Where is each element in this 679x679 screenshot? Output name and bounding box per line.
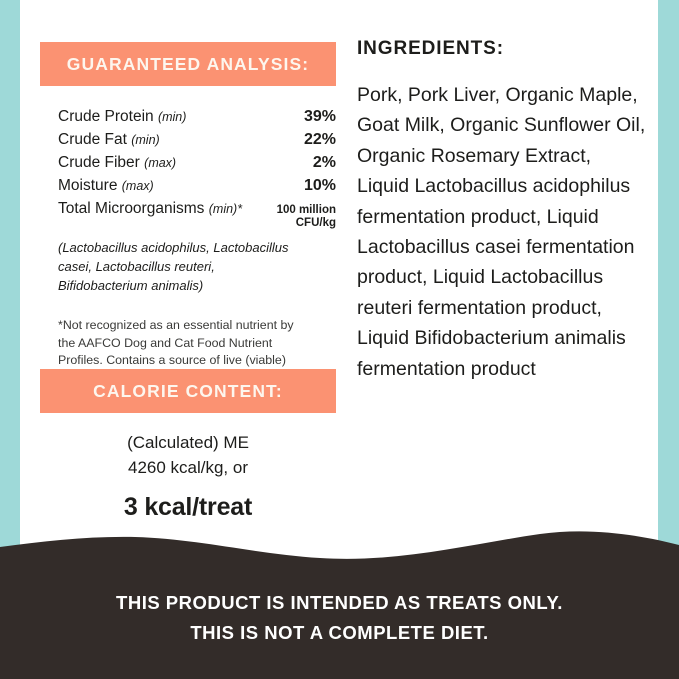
- nutrient-qualifier: (min): [158, 110, 186, 124]
- nutrient-name-cell: Crude Protein (min): [40, 105, 269, 128]
- nutrient-name: Crude Fiber: [58, 154, 140, 171]
- nutrient-name-cell: Moisture (max): [40, 174, 269, 197]
- guaranteed-analysis-section: GUARANTEED ANALYSIS: Crude Protein (min)…: [40, 42, 336, 387]
- table-row: Moisture (max) 10%: [40, 174, 336, 197]
- calorie-content-heading: CALORIE CONTENT:: [93, 381, 283, 402]
- calorie-content-section: CALORIE CONTENT: (Calculated) ME 4260 kc…: [40, 369, 336, 522]
- disclaimer-banner-text: THIS PRODUCT IS INTENDED AS TREATS ONLY.…: [0, 588, 679, 648]
- ingredients-list: Pork, Pork Liver, Organic Maple, Goat Mi…: [357, 80, 647, 384]
- nutrient-name-cell: Total Microorganisms (min)*: [40, 197, 269, 232]
- nutrient-value: 39%: [269, 105, 336, 128]
- nutrient-name: Total Microorganisms: [58, 200, 204, 217]
- pet-food-label: GUARANTEED ANALYSIS: Crude Protein (min)…: [0, 0, 679, 679]
- guaranteed-analysis-header-bar: GUARANTEED ANALYSIS:: [40, 42, 336, 86]
- table-row: Total Microorganisms (min)* 100 million …: [40, 197, 336, 232]
- table-row: Crude Fat (min) 22%: [40, 128, 336, 151]
- ingredients-heading: INGREDIENTS:: [357, 38, 647, 60]
- nutrient-name: Crude Fat: [58, 131, 127, 148]
- ingredients-section: INGREDIENTS: Pork, Pork Liver, Organic M…: [357, 38, 647, 384]
- microorganism-count: 100 million: [277, 204, 336, 216]
- table-row: Crude Fiber (max) 2%: [40, 151, 336, 174]
- calorie-per-kg-line: 4260 kcal/kg, or: [40, 456, 336, 481]
- nutrient-qualifier: (min)*: [209, 202, 242, 216]
- table-row: Crude Protein (min) 39%: [40, 105, 336, 128]
- microorganism-unit: CFU/kg: [296, 217, 336, 229]
- nutrient-name: Crude Protein: [58, 108, 154, 125]
- nutrient-value: 22%: [269, 128, 336, 151]
- nutrient-qualifier: (max): [144, 156, 176, 170]
- calorie-content-body: (Calculated) ME 4260 kcal/kg, or 3 kcal/…: [40, 431, 336, 522]
- calorie-per-treat: 3 kcal/treat: [40, 493, 336, 522]
- guaranteed-analysis-heading: GUARANTEED ANALYSIS:: [67, 54, 309, 75]
- calorie-me-line: (Calculated) ME: [40, 431, 336, 456]
- nutrient-qualifier: (min): [131, 133, 159, 147]
- nutrient-value: 100 million CFU/kg: [269, 197, 336, 232]
- disclaimer-line-1: THIS PRODUCT IS INTENDED AS TREATS ONLY.: [0, 588, 679, 618]
- nutrient-value: 2%: [269, 151, 336, 174]
- nutrient-name-cell: Crude Fat (min): [40, 128, 269, 151]
- guaranteed-analysis-table: Crude Protein (min) 39% Crude Fat (min) …: [40, 105, 336, 232]
- nutrient-qualifier: (max): [122, 179, 154, 193]
- calorie-content-header-bar: CALORIE CONTENT:: [40, 369, 336, 413]
- nutrient-name: Moisture: [58, 177, 117, 194]
- organism-list: (Lactobacillus acidophilus, Lactobacillu…: [40, 239, 293, 296]
- nutrient-value: 10%: [269, 174, 336, 197]
- disclaimer-line-2: THIS IS NOT A COMPLETE DIET.: [0, 618, 679, 648]
- nutrient-name-cell: Crude Fiber (max): [40, 151, 269, 174]
